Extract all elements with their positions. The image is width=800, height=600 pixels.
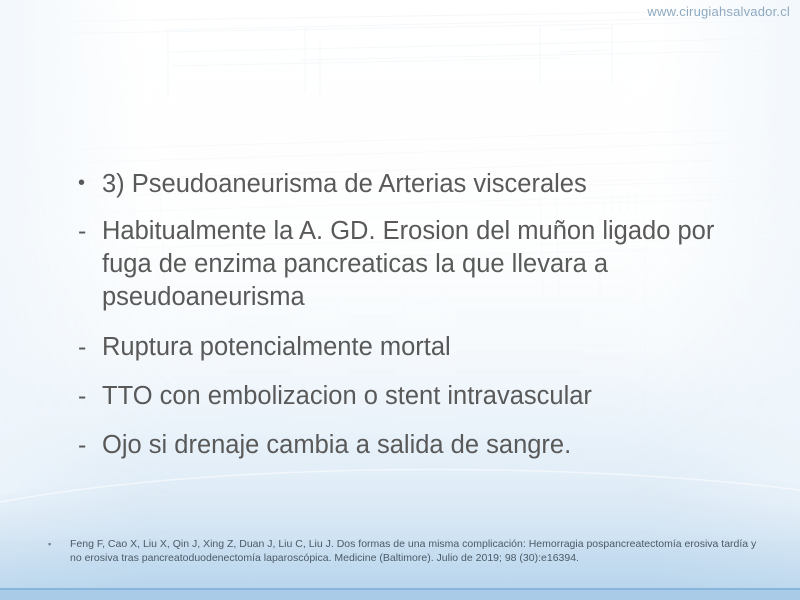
bullet-marker-dash: - xyxy=(78,429,102,462)
bullet-item: - Ojo si drenaje cambia a salida de sang… xyxy=(78,429,766,462)
bullet-item: • 3) Pseudoaneurisma de Arterias viscera… xyxy=(78,168,766,201)
bullet-text: Ruptura potencialmente mortal xyxy=(102,331,766,364)
bullet-text: 3) Pseudoaneurisma de Arterias viscerale… xyxy=(102,168,766,201)
bullet-item: - TTO con embolizacion o stent intravasc… xyxy=(78,380,766,413)
bullet-item: - Ruptura potencialmente mortal xyxy=(78,331,766,364)
bullet-item: - Habitualmente la A. GD. Erosion del mu… xyxy=(78,215,766,314)
footnote-citation: ▪ Feng F, Cao X, Liu X, Qin J, Xing Z, D… xyxy=(48,538,768,565)
bullet-text: TTO con embolizacion o stent intravascul… xyxy=(102,380,766,413)
slide: www.cirugiahsalvador.cl • 3) Pseudoaneur… xyxy=(0,0,800,600)
slide-body: • 3) Pseudoaneurisma de Arterias viscera… xyxy=(78,168,766,478)
bullet-text: Habitualmente la A. GD. Erosion del muño… xyxy=(102,215,766,314)
footnote-text: Feng F, Cao X, Liu X, Qin J, Xing Z, Dua… xyxy=(70,538,768,565)
bullet-marker-dash: - xyxy=(78,380,102,413)
bottom-accent-strip xyxy=(0,590,800,600)
site-url-label: www.cirugiahsalvador.cl xyxy=(647,4,790,19)
bullet-marker-dot: • xyxy=(78,168,102,199)
bullet-marker-dash: - xyxy=(78,215,102,248)
bullet-marker-dash: - xyxy=(78,331,102,364)
footnote-marker-square: ▪ xyxy=(48,538,70,552)
bullet-text: Ojo si drenaje cambia a salida de sangre… xyxy=(102,429,766,462)
